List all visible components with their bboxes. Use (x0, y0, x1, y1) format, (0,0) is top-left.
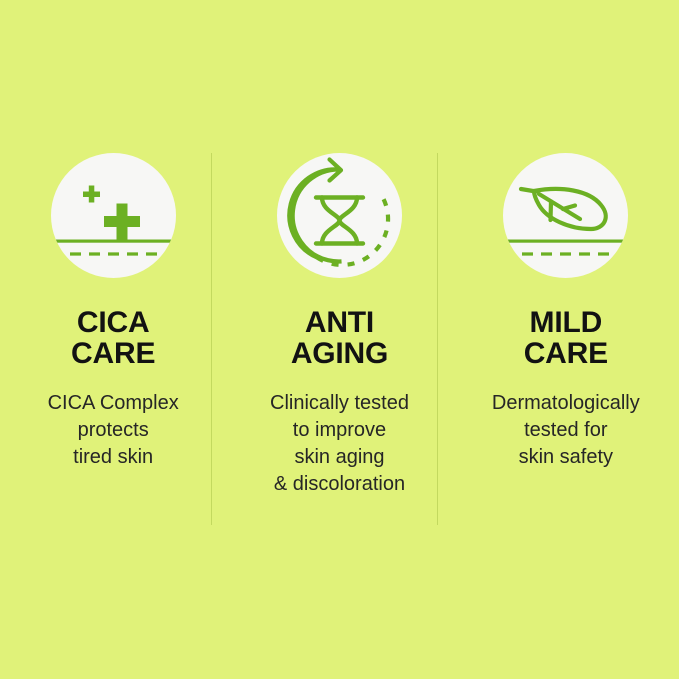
leaf-icon (503, 153, 628, 278)
cica-plus-icon (51, 153, 176, 278)
benefits-columns: CICA CARE CICA Complex protects tired sk… (0, 0, 679, 679)
benefit-description: CICA Complex protects tired skin (48, 390, 179, 471)
column-divider-2 (437, 153, 438, 525)
column-divider-1 (211, 153, 212, 525)
benefit-description: Dermatologically tested for skin safety (492, 390, 640, 471)
benefit-title: ANTI AGING (291, 307, 388, 369)
benefit-description: Clinically tested to improve skin aging … (270, 390, 409, 498)
benefit-column-anti-aging: ANTI AGING Clinically tested to improve … (226, 0, 452, 498)
hourglass-rotation-icon (277, 153, 402, 278)
benefit-column-mild-care: MILD CARE Dermatologically tested for sk… (453, 0, 679, 471)
benefit-title: MILD CARE (524, 307, 608, 369)
benefits-panel: CICA CARE CICA Complex protects tired sk… (0, 0, 679, 679)
benefit-column-cica-care: CICA CARE CICA Complex protects tired sk… (0, 0, 226, 471)
benefit-title: CICA CARE (71, 307, 155, 369)
